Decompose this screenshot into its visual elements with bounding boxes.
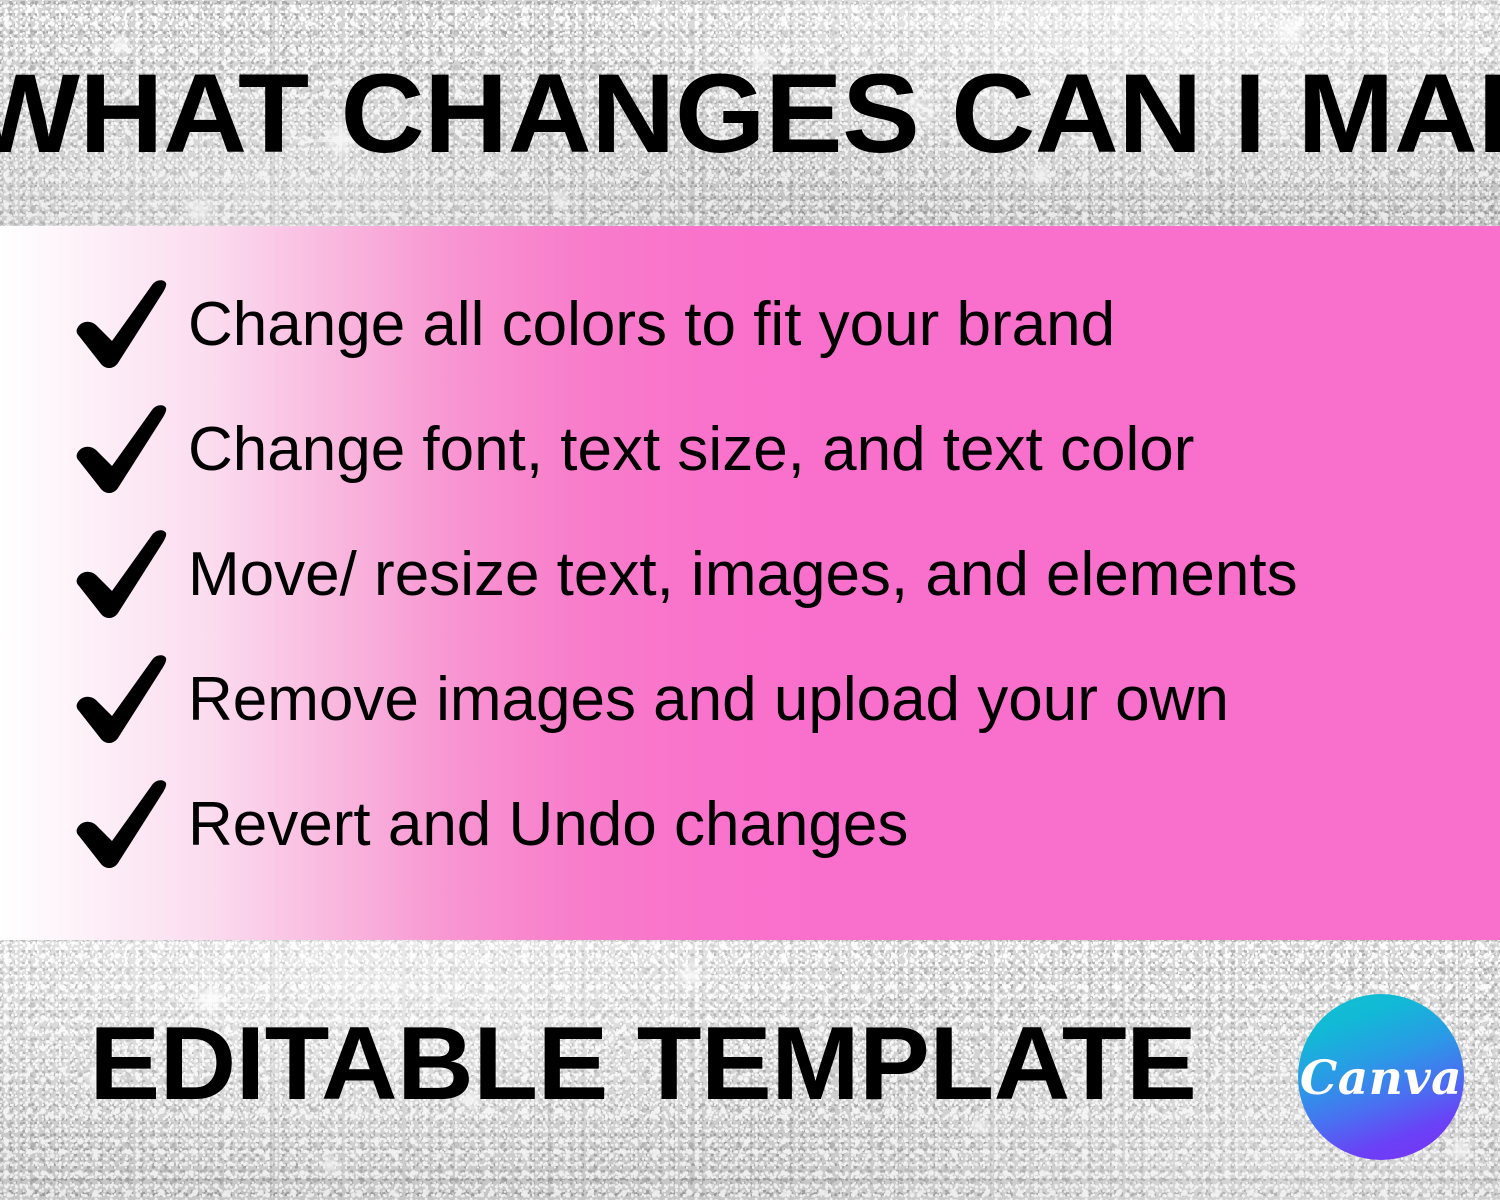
canva-logo-badge: Canva: [1298, 994, 1464, 1160]
page-title: WHAT CHANGES CAN I MAKE?: [0, 58, 1500, 170]
feature-checklist: Change all colors to fit your brand Chan…: [0, 262, 1440, 887]
list-item-label: Change all colors to fit your brand: [188, 292, 1115, 357]
checkmark-icon: [66, 652, 176, 748]
list-item: Move/ resize text, images, and elements: [0, 512, 1440, 637]
list-item-label: Revert and Undo changes: [188, 792, 908, 857]
list-item: Remove images and upload your own: [0, 637, 1440, 762]
footer-title: EDITABLE TEMPLATE: [0, 1012, 1500, 1116]
checkmark-icon: [66, 277, 176, 373]
list-item-label: Remove images and upload your own: [188, 667, 1229, 732]
list-item: Revert and Undo changes: [0, 762, 1440, 887]
list-item: Change all colors to fit your brand: [0, 262, 1440, 387]
list-item: Change font, text size, and text color: [0, 387, 1440, 512]
list-item-label: Change font, text size, and text color: [188, 417, 1194, 482]
list-item-label: Move/ resize text, images, and elements: [188, 542, 1298, 607]
checkmark-icon: [66, 402, 176, 498]
checkmark-icon: [66, 777, 176, 873]
checkmark-icon: [66, 527, 176, 623]
canva-wordmark: Canva: [1300, 1055, 1462, 1102]
poster-canvas: WHAT CHANGES CAN I MAKE? Change all colo…: [0, 0, 1500, 1200]
